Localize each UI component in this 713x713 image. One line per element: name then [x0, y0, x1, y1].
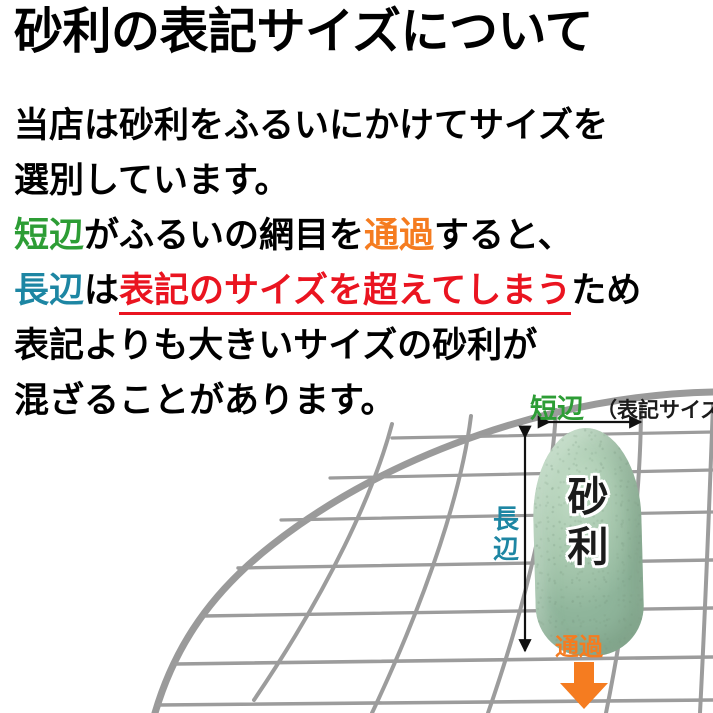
- page-title: 砂利の表記サイズについて: [14, 8, 704, 57]
- short-side-label: 短辺: [530, 396, 584, 423]
- text-segment: がふるいの網目を: [84, 216, 364, 255]
- body-line-4: 長辺は表記のサイズを超えてしまうため: [14, 263, 713, 318]
- text-segment: 選別しています。: [14, 161, 289, 200]
- text-segment: 混ざることがあります。: [14, 381, 396, 420]
- text-segment: ため: [571, 271, 641, 310]
- gravel-stone-label: 砂 利: [534, 472, 642, 572]
- body-text-block: 当店は砂利をふるいにかけてサイズを 選別しています。 短辺がふるいの網目を通過す…: [14, 98, 713, 428]
- text-segment-warning: 表記のサイズを超えてしまう: [119, 271, 571, 315]
- gravel-label-char-1: 砂: [534, 472, 642, 522]
- long-side-label-char-1: 長: [492, 504, 520, 534]
- text-segment-long-side: 長辺: [14, 271, 84, 310]
- short-side-note: （表記サイズ）: [596, 400, 713, 421]
- text-segment: 当店は砂利をふるいにかけてサイズを: [14, 106, 608, 145]
- text-segment-short-side: 短辺: [14, 216, 84, 255]
- text-segment: 表記よりも大きいサイズの砂利が: [14, 326, 537, 365]
- body-line-5: 表記よりも大きいサイズの砂利が: [14, 318, 713, 373]
- text-segment: すると、: [434, 216, 573, 255]
- body-line-1: 当店は砂利をふるいにかけてサイズを: [14, 98, 713, 153]
- gravel-stone: 砂 利: [534, 428, 642, 656]
- text-segment: は: [84, 271, 119, 310]
- gravel-label-char-2: 利: [534, 522, 642, 572]
- long-side-label-char-2: 辺: [492, 534, 520, 564]
- text-segment-pass: 通過: [364, 216, 434, 255]
- body-line-2: 選別しています。: [14, 153, 713, 208]
- long-side-label: 長 辺: [492, 504, 520, 564]
- pass-through-label: 通過: [555, 636, 603, 660]
- body-line-3: 短辺がふるいの網目を通過すると、: [14, 208, 713, 263]
- infographic-canvas: 砂利の表記サイズについて 当店は砂利をふるいにかけてサイズを 選別しています。 …: [0, 0, 713, 713]
